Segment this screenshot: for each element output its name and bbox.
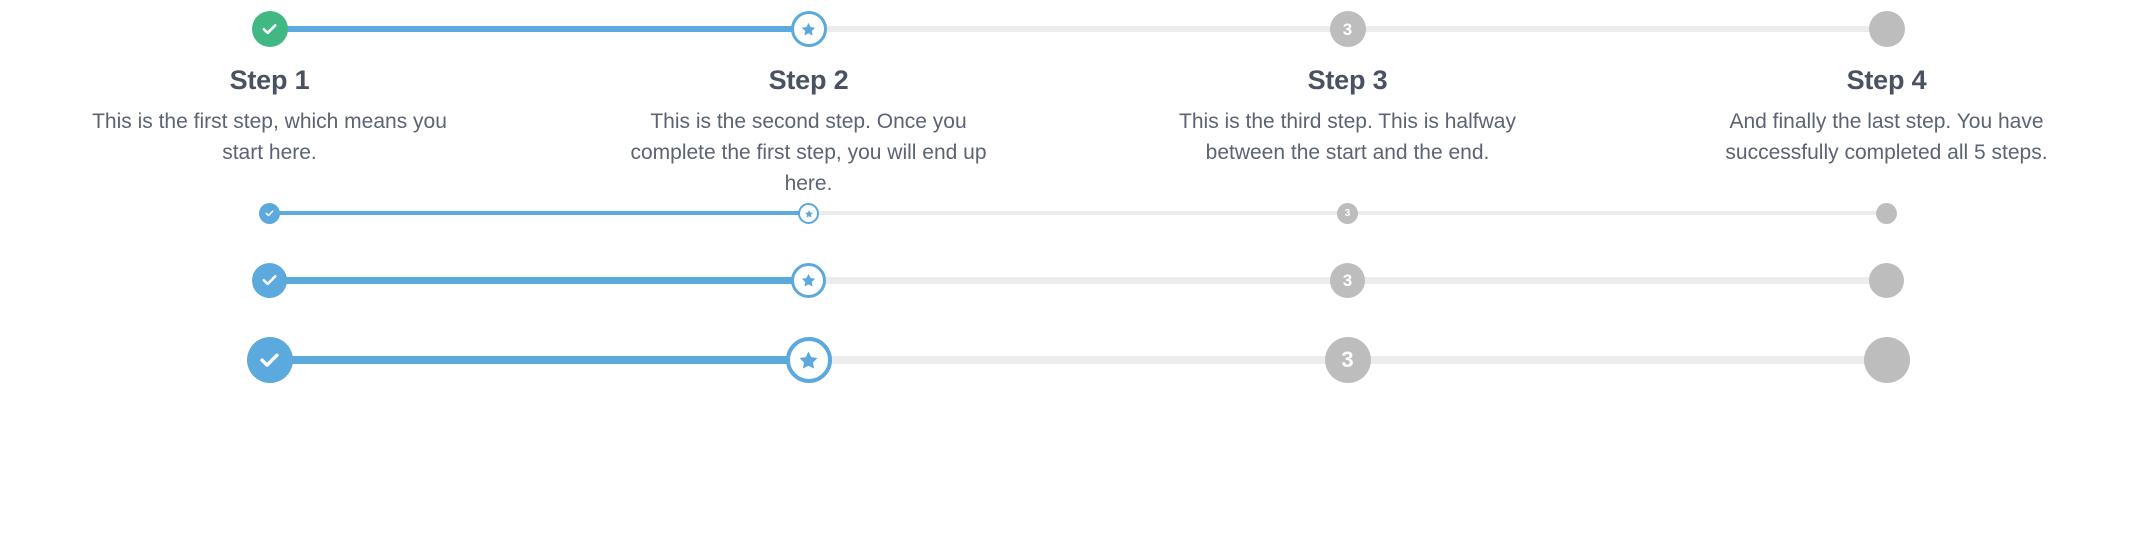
step-item-3[interactable]: 3 — [1078, 263, 1617, 298]
step-item-1[interactable] — [0, 337, 539, 383]
step-item-2[interactable] — [539, 203, 1078, 224]
step-node-2[interactable] — [791, 11, 827, 47]
star-icon — [800, 272, 817, 289]
step-title-2: Step 2 — [619, 65, 999, 96]
stepper-medium: 3 — [0, 263, 2156, 298]
step-item-4[interactable] — [1617, 203, 2156, 224]
star-icon — [797, 349, 820, 372]
step-description-2: This is the second step. Once you comple… — [619, 106, 999, 199]
step-node-2[interactable] — [786, 337, 832, 383]
step-item-4[interactable] — [1617, 337, 2156, 383]
step-node-1[interactable] — [252, 11, 288, 47]
step-item-1[interactable] — [0, 203, 539, 224]
step-description-1: This is the first step, which means you … — [80, 106, 460, 168]
step-title-3: Step 3 — [1158, 65, 1538, 96]
step-node-4[interactable] — [1869, 11, 1905, 47]
step-title-1: Step 1 — [80, 65, 460, 96]
step-item-3[interactable]: 3 Step 3 This is the third step. This is… — [1078, 11, 1617, 168]
step-item-4[interactable] — [1617, 263, 2156, 298]
step-node-1[interactable] — [247, 337, 293, 383]
step-node-3[interactable]: 3 — [1330, 263, 1365, 298]
step-labels-2: Step 2 This is the second step. Once you… — [599, 65, 1019, 199]
step-number-3: 3 — [1345, 209, 1351, 219]
step-node-4[interactable] — [1864, 337, 1910, 383]
step-item-2[interactable]: Step 2 This is the second step. Once you… — [539, 11, 1078, 199]
stepper-demo-page: Step 1 This is the first step, which mea… — [0, 0, 2156, 560]
check-icon — [257, 348, 282, 373]
check-icon — [260, 20, 279, 39]
step-labels-3: Step 3 This is the third step. This is h… — [1138, 65, 1558, 168]
stepper-large-labeled: Step 1 This is the first step, which mea… — [0, 11, 2156, 199]
step-item-3[interactable]: 3 — [1078, 337, 1617, 383]
step-node-2[interactable] — [798, 203, 819, 224]
stepper-xsmall: 3 — [0, 203, 2156, 224]
star-icon — [804, 209, 814, 219]
step-item-2[interactable] — [539, 263, 1078, 298]
step-number-3: 3 — [1343, 21, 1352, 38]
step-node-1[interactable] — [259, 203, 280, 224]
step-description-4: And finally the last step. You have succ… — [1697, 106, 2077, 168]
step-number-3: 3 — [1341, 349, 1353, 371]
step-item-1[interactable]: Step 1 This is the first step, which mea… — [0, 11, 539, 168]
step-item-3[interactable]: 3 — [1078, 203, 1617, 224]
step-node-1[interactable] — [252, 263, 287, 298]
step-node-4[interactable] — [1876, 203, 1897, 224]
stepper-large: 3 — [0, 337, 2156, 383]
star-icon — [800, 21, 817, 38]
step-labels-1: Step 1 This is the first step, which mea… — [60, 65, 480, 168]
check-icon — [260, 271, 279, 290]
step-number-3: 3 — [1343, 272, 1352, 289]
check-icon — [264, 208, 275, 219]
step-node-3[interactable]: 3 — [1325, 337, 1371, 383]
step-node-3[interactable]: 3 — [1337, 203, 1358, 224]
step-item-1[interactable] — [0, 263, 539, 298]
step-node-3[interactable]: 3 — [1330, 11, 1366, 47]
step-item-4[interactable]: Step 4 And finally the last step. You ha… — [1617, 11, 2156, 168]
step-node-4[interactable] — [1869, 263, 1904, 298]
step-node-2[interactable] — [791, 263, 826, 298]
step-title-4: Step 4 — [1697, 65, 2077, 96]
step-item-2[interactable] — [539, 337, 1078, 383]
step-description-3: This is the third step. This is halfway … — [1158, 106, 1538, 168]
step-labels-4: Step 4 And finally the last step. You ha… — [1677, 65, 2097, 168]
